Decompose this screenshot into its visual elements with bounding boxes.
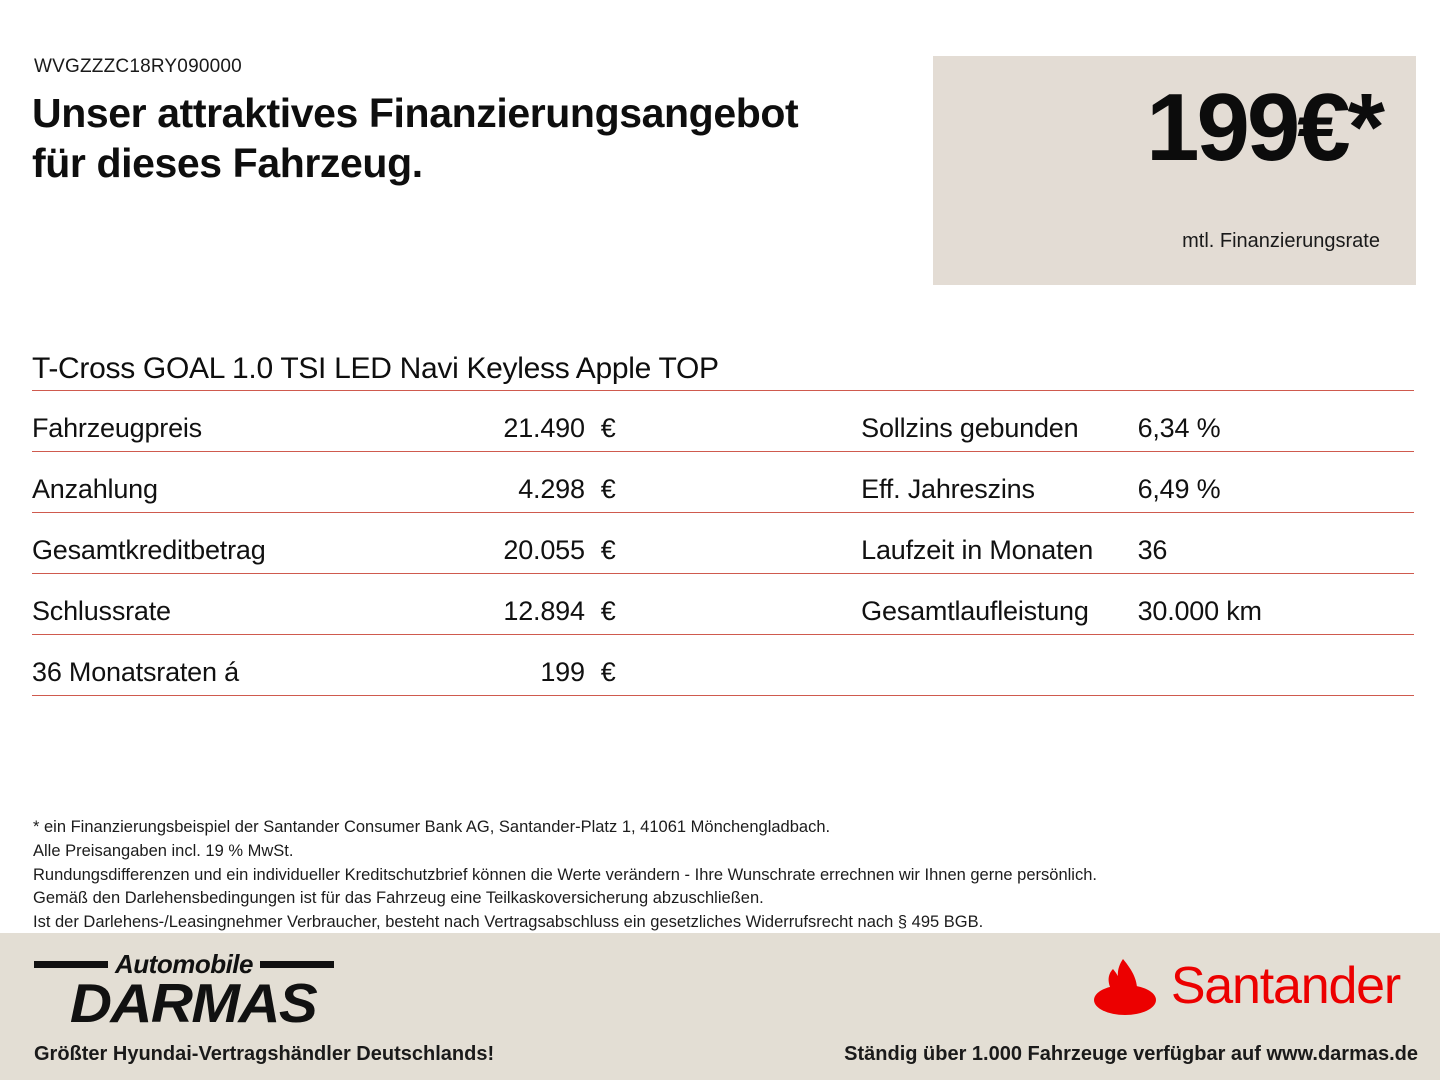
- row-right-label-cell: Gesamtlaufleistung: [861, 574, 1137, 635]
- row-right-label-cell: Laufzeit in Monaten: [861, 513, 1137, 574]
- logo-rule-right: [260, 961, 334, 968]
- dealer-tagline: Größter Hyundai-Vertragshändler Deutschl…: [34, 1043, 494, 1066]
- row-right-label-cell: [861, 635, 1137, 696]
- row-right-value: 30.000 km: [1138, 596, 1262, 626]
- row-left-label: 36 Monatsraten á: [32, 657, 239, 687]
- table-row: Fahrzeugpreis 21.490 € Sollzins gebunden…: [32, 391, 1414, 452]
- logo-rule-left: [34, 961, 108, 968]
- row-left-unit-cell: €: [585, 452, 861, 513]
- monthly-rate-caption: mtl. Finanzierungsrate: [1182, 230, 1380, 253]
- row-left-unit: €: [601, 413, 616, 443]
- row-left-label: Gesamtkreditbetrag: [32, 535, 266, 565]
- row-left-value: 12.894: [503, 596, 584, 626]
- row-left-label: Schlussrate: [32, 596, 171, 626]
- row-left-value-cell: 4.298: [308, 452, 584, 513]
- row-left-unit-cell: €: [585, 635, 861, 696]
- headline-line-1: Unser attraktives Finanzierungsangebot: [32, 88, 912, 138]
- row-left-unit-cell: €: [585, 574, 861, 635]
- table-row: Gesamtkreditbetrag 20.055 € Laufzeit in …: [32, 513, 1414, 574]
- row-right-label: Gesamtlaufleistung: [861, 596, 1089, 626]
- legal-line-2: Alle Preisangaben incl. 19 % MwSt.: [33, 840, 1393, 864]
- headline-line-2: für dieses Fahrzeug.: [32, 138, 912, 188]
- row-left-unit-cell: €: [585, 391, 861, 452]
- vehicle-identification-number: WVGZZZC18RY090000: [34, 56, 242, 78]
- financing-offer-page: WVGZZZC18RY090000 Unser attraktives Fina…: [0, 0, 1440, 1080]
- legal-line-3: Rundungsdifferenzen und ein individuelle…: [33, 864, 1393, 888]
- row-right-label: Eff. Jahreszins: [861, 474, 1035, 504]
- dealer-logo: Automobile DARMAS: [34, 949, 334, 1021]
- row-left-value-cell: 12.894: [308, 574, 584, 635]
- table-row: 36 Monatsraten á 199 €: [32, 635, 1414, 696]
- row-right-label-cell: Eff. Jahreszins: [861, 452, 1137, 513]
- row-right-label-cell: Sollzins gebunden: [861, 391, 1137, 452]
- row-left-unit: €: [601, 474, 616, 504]
- financing-table: T-Cross GOAL 1.0 TSI LED Navi Keyless Ap…: [32, 352, 1414, 696]
- monthly-rate-amount: 199€*: [1146, 80, 1382, 176]
- santander-flame-icon: [1093, 955, 1157, 1017]
- row-right-value: 36: [1138, 535, 1168, 565]
- row-left-label: Fahrzeugpreis: [32, 413, 202, 443]
- page-title: Unser attraktives Finanzierungsangebot f…: [32, 88, 912, 188]
- availability-tagline: Ständig über 1.000 Fahrzeuge verfügbar a…: [844, 1043, 1418, 1066]
- row-right-value-cell: 36: [1138, 513, 1414, 574]
- vehicle-title: T-Cross GOAL 1.0 TSI LED Navi Keyless Ap…: [32, 352, 719, 385]
- header-section: WVGZZZC18RY090000 Unser attraktives Fina…: [0, 0, 1440, 300]
- row-left-unit-cell: €: [585, 513, 861, 574]
- santander-wordmark: Santander: [1171, 960, 1400, 1012]
- row-left-label-cell: Gesamtkreditbetrag: [32, 513, 308, 574]
- row-right-value-cell: [1138, 635, 1414, 696]
- row-left-unit: €: [601, 657, 616, 687]
- footer-bar: Automobile DARMAS Größter Hyundai-Vertra…: [0, 933, 1440, 1080]
- row-left-label-cell: Anzahlung: [32, 452, 308, 513]
- table-row: Schlussrate 12.894 € Gesamtlaufleistung …: [32, 574, 1414, 635]
- row-left-value-cell: 21.490: [308, 391, 584, 452]
- financing-table-wrapper: T-Cross GOAL 1.0 TSI LED Navi Keyless Ap…: [32, 352, 1414, 696]
- dealer-logo-word-darmas: DARMAS: [34, 977, 352, 1029]
- row-right-value: 6,34 %: [1138, 413, 1221, 443]
- row-left-label-cell: 36 Monatsraten á: [32, 635, 308, 696]
- table-row: Anzahlung 4.298 € Eff. Jahreszins 6,49 %: [32, 452, 1414, 513]
- vehicle-title-cell: T-Cross GOAL 1.0 TSI LED Navi Keyless Ap…: [32, 352, 1414, 391]
- row-left-unit: €: [601, 535, 616, 565]
- row-right-value-cell: 6,49 %: [1138, 452, 1414, 513]
- row-left-value-cell: 20.055: [308, 513, 584, 574]
- legal-line-4: Gemäß den Darlehensbedingungen ist für d…: [33, 887, 1393, 911]
- table-title-row: T-Cross GOAL 1.0 TSI LED Navi Keyless Ap…: [32, 352, 1414, 391]
- row-right-value-cell: 6,34 %: [1138, 391, 1414, 452]
- row-left-value: 4.298: [518, 474, 585, 504]
- santander-logo: Santander: [1093, 951, 1400, 1021]
- row-right-label: Sollzins gebunden: [861, 413, 1078, 443]
- row-left-label-cell: Fahrzeugpreis: [32, 391, 308, 452]
- monthly-rate-box: 199€* mtl. Finanzierungsrate: [933, 56, 1416, 285]
- row-right-value-cell: 30.000 km: [1138, 574, 1414, 635]
- legal-line-1: * ein Finanzierungsbeispiel der Santande…: [33, 816, 1393, 840]
- row-left-unit: €: [601, 596, 616, 626]
- row-right-label: Laufzeit in Monaten: [861, 535, 1093, 565]
- row-left-label: Anzahlung: [32, 474, 158, 504]
- row-left-label-cell: Schlussrate: [32, 574, 308, 635]
- legal-disclaimer: * ein Finanzierungsbeispiel der Santande…: [33, 816, 1393, 935]
- row-left-value: 21.490: [503, 413, 584, 443]
- legal-line-5: Ist der Darlehens-/Leasingnehmer Verbrau…: [33, 911, 1393, 935]
- row-right-value: 6,49 %: [1138, 474, 1221, 504]
- row-left-value-cell: 199: [308, 635, 584, 696]
- row-left-value: 199: [540, 657, 584, 687]
- row-left-value: 20.055: [503, 535, 584, 565]
